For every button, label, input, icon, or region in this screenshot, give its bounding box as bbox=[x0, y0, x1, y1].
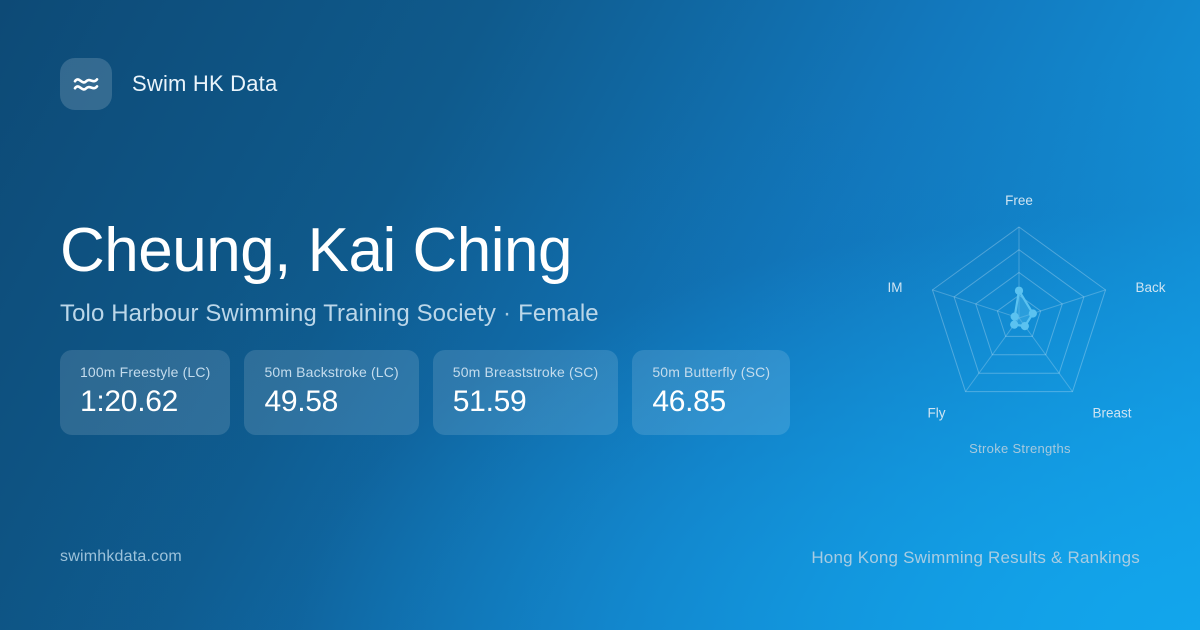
radar-axis-label-back: Back bbox=[1136, 280, 1166, 295]
meta-separator: · bbox=[496, 300, 518, 327]
stat-card-value: 46.85 bbox=[652, 385, 770, 419]
stat-card-label: 50m Butterfly (SC) bbox=[652, 364, 770, 380]
athlete-header: Cheung, Kai Ching Tolo Harbour Swimming … bbox=[60, 218, 820, 328]
wave-approx-icon bbox=[60, 58, 112, 110]
radar-axis-label-free: Free bbox=[1005, 193, 1033, 208]
radar-axis-label-breast: Breast bbox=[1093, 406, 1132, 421]
stat-card-value: 1:20.62 bbox=[80, 385, 210, 419]
footer-site-url[interactable]: swimhkdata.com bbox=[60, 548, 182, 566]
brand-name: Swim HK Data bbox=[132, 71, 277, 97]
stat-card[interactable]: 50m Breaststroke (SC) 51.59 bbox=[433, 350, 619, 435]
stat-card-label: 50m Backstroke (LC) bbox=[264, 364, 398, 380]
stroke-strengths-radar-chart: FreeBackBreastFlyIM bbox=[860, 170, 1180, 470]
page-title: Cheung, Kai Ching bbox=[60, 218, 820, 284]
radar-axis-label-im: IM bbox=[888, 280, 903, 295]
stat-card[interactable]: 50m Backstroke (LC) 49.58 bbox=[244, 350, 418, 435]
brand-logo[interactable]: Swim HK Data bbox=[60, 58, 277, 110]
stat-card-value: 49.58 bbox=[264, 385, 398, 419]
athlete-gender: Female bbox=[518, 300, 599, 327]
athlete-club: Tolo Harbour Swimming Training Society bbox=[60, 300, 496, 327]
radar-svg: FreeBackBreastFlyIM bbox=[860, 170, 1180, 470]
stat-card-value: 51.59 bbox=[453, 385, 599, 419]
footer-tagline: Hong Kong Swimming Results & Rankings bbox=[811, 548, 1140, 568]
radar-axis-label-fly: Fly bbox=[928, 406, 946, 421]
stat-card[interactable]: 50m Butterfly (SC) 46.85 bbox=[632, 350, 790, 435]
athlete-meta: Tolo Harbour Swimming Training Society·F… bbox=[60, 300, 820, 328]
best-times-list: 100m Freestyle (LC) 1:20.62 50m Backstro… bbox=[60, 350, 790, 435]
radar-chart-caption: Stroke Strengths bbox=[860, 441, 1180, 456]
stat-card-label: 50m Breaststroke (SC) bbox=[453, 364, 599, 380]
stat-card-label: 100m Freestyle (LC) bbox=[80, 364, 210, 380]
stat-card[interactable]: 100m Freestyle (LC) 1:20.62 bbox=[60, 350, 230, 435]
